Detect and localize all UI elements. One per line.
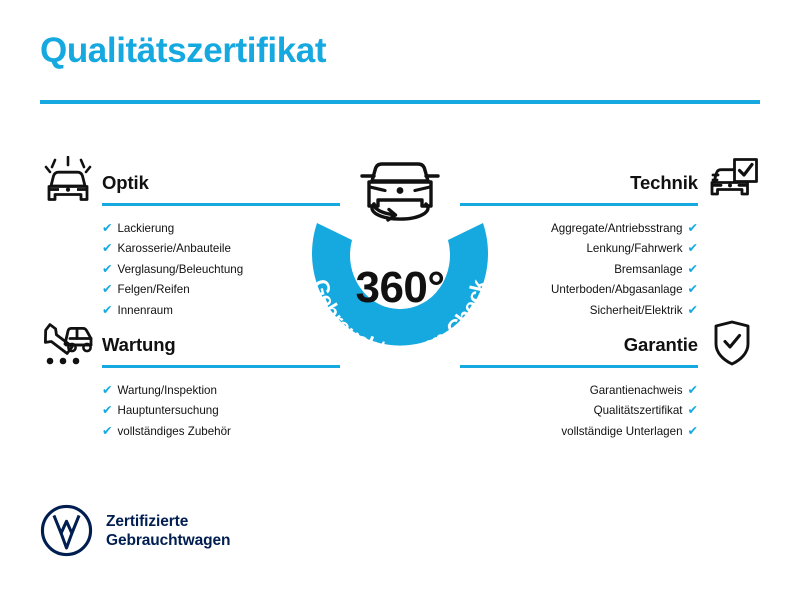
check-icon: ✔	[688, 404, 698, 417]
check-icon: ✔	[688, 304, 698, 317]
car-checkbox-icon	[704, 156, 760, 206]
list-item-label: Sicherheit/Elektrik	[590, 301, 683, 321]
check-icon: ✔	[102, 242, 112, 255]
brand-text: Zertifizierte Gebrauchtwagen	[106, 512, 230, 550]
check-icon: ✔	[688, 283, 698, 296]
list-item-label: Qualitätszertifikat	[594, 401, 683, 421]
vw-logo-icon	[40, 504, 93, 557]
list-item-label: Aggregate/Antriebsstrang	[551, 219, 682, 239]
list-item-label: Wartung/Inspektion	[117, 381, 216, 401]
list-item-label: Hauptuntersuchung	[117, 401, 218, 421]
list-item: Garantienachweis✔	[460, 381, 760, 401]
list-item: ✔Hauptuntersuchung	[40, 401, 340, 421]
check-icon: ✔	[102, 384, 112, 397]
list-item-label: Garantienachweis	[590, 381, 683, 401]
section-optik-title: Optik	[102, 172, 149, 194]
list-item: ✔Wartung/Inspektion	[40, 381, 340, 401]
check-icon: ✔	[102, 283, 112, 296]
brand-lockup: Zertifizierte Gebrauchtwagen	[40, 504, 230, 557]
brand-line-2: Gebrauchtwagen	[106, 532, 230, 549]
check-icon: ✔	[102, 263, 112, 276]
list-item-label: vollständige Unterlagen	[561, 422, 682, 442]
check-icon: ✔	[688, 222, 698, 235]
list-item: Qualitätszertifikat✔	[460, 401, 760, 421]
list-item: ✔vollständiges Zubehör	[40, 422, 340, 442]
page-title: Qualitätszertifikat	[40, 33, 326, 70]
check-icon: ✔	[688, 263, 698, 276]
section-technik-title: Technik	[630, 172, 698, 194]
check-icon: ✔	[688, 242, 698, 255]
list-item-label: Karosserie/Anbauteile	[117, 239, 230, 259]
car-rotate-icon	[362, 164, 438, 220]
list-item-label: Bremsanlage	[614, 260, 682, 280]
check-icon: ✔	[688, 425, 698, 438]
section-garantie-title: Garantie	[624, 334, 698, 356]
shield-check-icon	[704, 318, 760, 368]
car-shine-icon	[40, 156, 96, 206]
list-item-label: Lenkung/Fahrwerk	[586, 239, 682, 259]
title-divider	[40, 100, 760, 104]
check-icon: ✔	[102, 222, 112, 235]
certificate-page: Qualitätszertifikat	[0, 0, 800, 600]
badge-center-label: 360°	[355, 263, 444, 312]
check-icon: ✔	[102, 425, 112, 438]
list-item-label: Lackierung	[117, 219, 174, 239]
check-icon: ✔	[102, 404, 112, 417]
list-item-label: vollständiges Zubehör	[117, 422, 230, 442]
check-icon: ✔	[102, 304, 112, 317]
check-icon: ✔	[688, 384, 698, 397]
brand-line-1: Zertifizierte	[106, 513, 188, 530]
list-item: vollständige Unterlagen✔	[460, 422, 760, 442]
list-item-label: Felgen/Reifen	[117, 280, 189, 300]
list-item-label: Verglasung/Beleuchtung	[117, 260, 243, 280]
list-item-label: Unterboden/Abgasanlage	[551, 280, 683, 300]
badge-360-check: Gebrauchtwagen-Check 360°	[290, 150, 510, 382]
section-wartung-title: Wartung	[102, 334, 176, 356]
list-item-label: Innenraum	[117, 301, 172, 321]
car-service-tool-icon	[40, 318, 96, 368]
